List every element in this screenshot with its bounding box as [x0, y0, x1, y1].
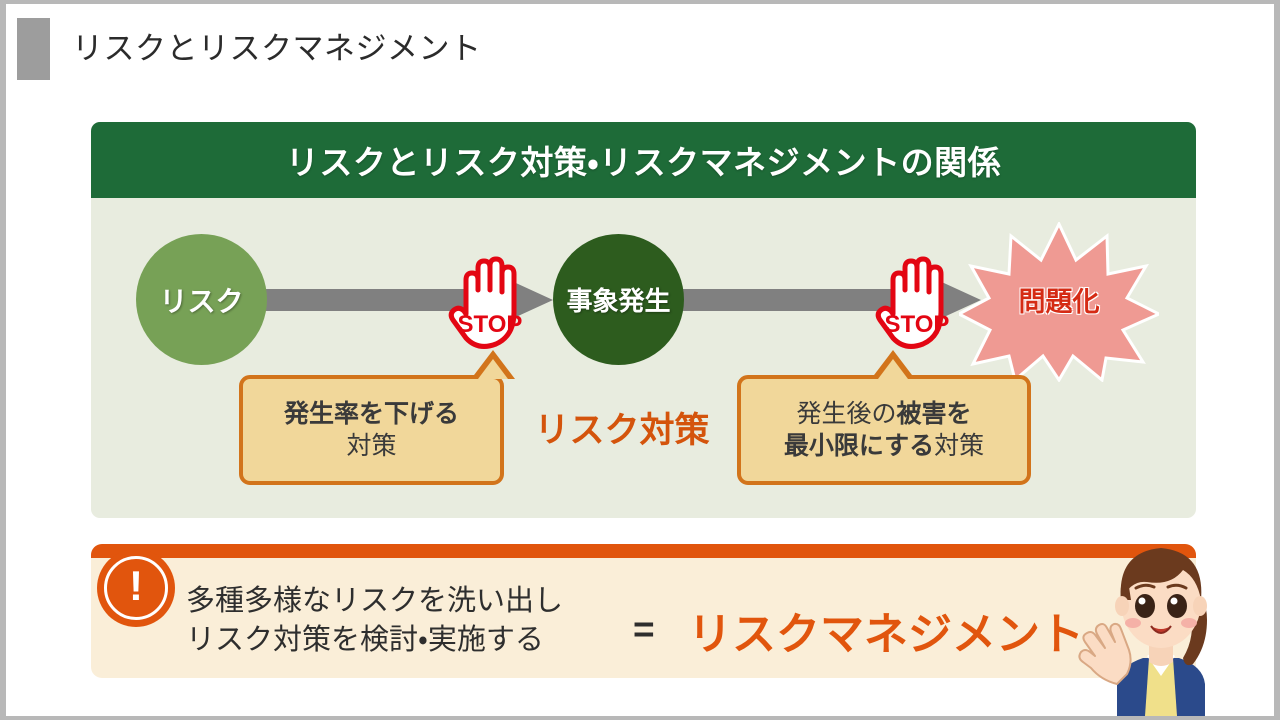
stop-hand-icon-2: STOP: [875, 250, 959, 354]
panel-header-title: リスクとリスク対策・リスクマネジメントの関係: [286, 136, 1001, 184]
callout-minimize-damage: 発生後の被害を 最小限にする対策: [737, 375, 1031, 485]
risk-measures-label: リスク対策: [506, 402, 738, 453]
page-title: リスクとリスクマネジメント: [72, 23, 482, 68]
summary-line-2: リスク対策を検討・実施する: [186, 621, 563, 660]
event-occurrence-circle: 事象発生: [553, 234, 684, 365]
callout-left-line1: 発生率を下げる: [284, 398, 459, 431]
callout-right-line2: 最小限にする対策: [784, 430, 984, 463]
callout-right-line1: 発生後の被害を: [796, 398, 971, 431]
event-circle-label: 事象発生: [566, 281, 670, 318]
panel-header: リスクとリスク対策・リスクマネジメントの関係: [91, 122, 1196, 198]
summary-description: 多種多様なリスクを洗い出し リスク対策を検討・実施する: [186, 582, 563, 659]
slide-title-row: リスクとリスクマネジメント: [6, 4, 1274, 96]
risk-circle: リスク: [136, 234, 267, 365]
callout-reduce-occurrence: 発生率を下げる 対策: [239, 375, 504, 485]
stop-text-2: STOP: [885, 311, 950, 338]
callout-left-line2: 対策: [346, 430, 396, 463]
exclamation-mark: !: [129, 565, 143, 607]
callout-tail-right: [871, 350, 915, 379]
relationship-panel: リスクとリスク対策・リスクマネジメントの関係 リスク 事象発生 問題化 STOP: [91, 122, 1196, 518]
callout-tail-left: [471, 350, 515, 379]
problem-label: 問題化: [959, 280, 1159, 319]
female-presenter-illustration: [1061, 516, 1241, 716]
equals-sign: =: [633, 609, 655, 651]
summary-accent-bar: [91, 544, 1196, 558]
exclamation-icon: !: [97, 549, 175, 627]
stop-text-1: STOP: [458, 311, 523, 338]
summary-line-1: 多種多様なリスクを洗い出し: [186, 582, 563, 621]
slide-canvas: リスクとリスクマネジメント リスクとリスク対策・リスクマネジメントの関係 リスク…: [6, 4, 1274, 716]
risk-management-label: リスクマネジメント: [688, 598, 1084, 662]
risk-circle-label: リスク: [159, 280, 243, 320]
title-marker-block: [17, 18, 50, 80]
stop-hand-icon-1: STOP: [448, 250, 532, 354]
